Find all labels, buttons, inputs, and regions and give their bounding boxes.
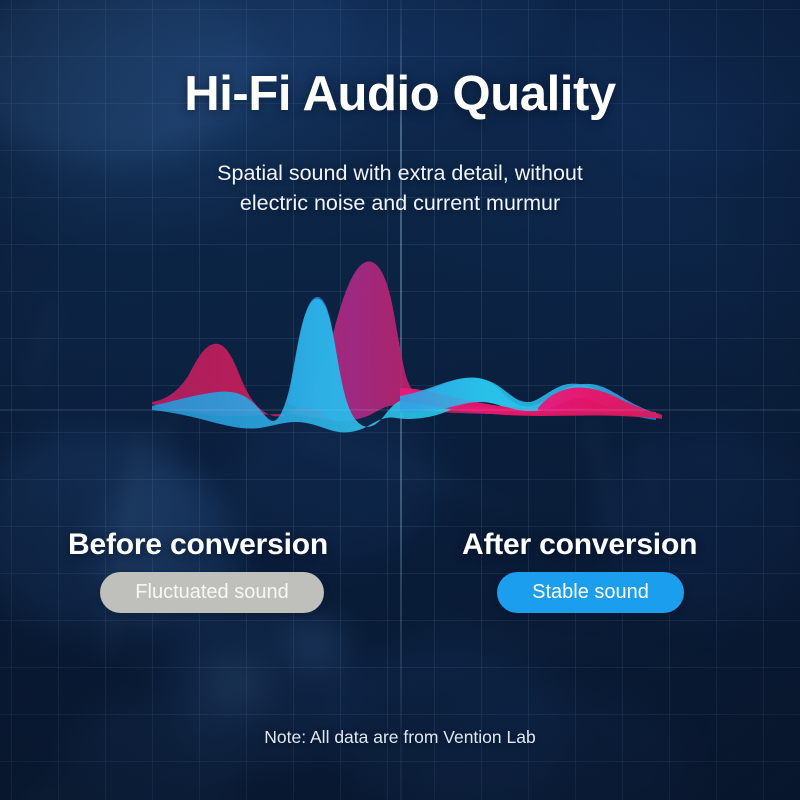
waveform-svg xyxy=(0,230,800,440)
fluctuated-sound-badge: Fluctuated sound xyxy=(100,572,324,613)
footer-note: Note: All data are from Vention Lab xyxy=(0,727,800,748)
hifi-audio-quality-graphic: Hi-Fi Audio Quality Spatial sound with e… xyxy=(0,0,800,800)
page-subtitle-line-2: electric noise and current murmur xyxy=(0,188,800,218)
page-subtitle: Spatial sound with extra detail, without… xyxy=(0,158,800,218)
before-conversion-heading: Before conversion xyxy=(68,528,328,562)
page-subtitle-line-1: Spatial sound with extra detail, without xyxy=(0,158,800,188)
audio-waveform-chart xyxy=(0,230,800,440)
page-title: Hi-Fi Audio Quality xyxy=(0,66,800,122)
stable-sound-badge: Stable sound xyxy=(497,572,684,613)
after-conversion-heading: After conversion xyxy=(462,528,697,562)
